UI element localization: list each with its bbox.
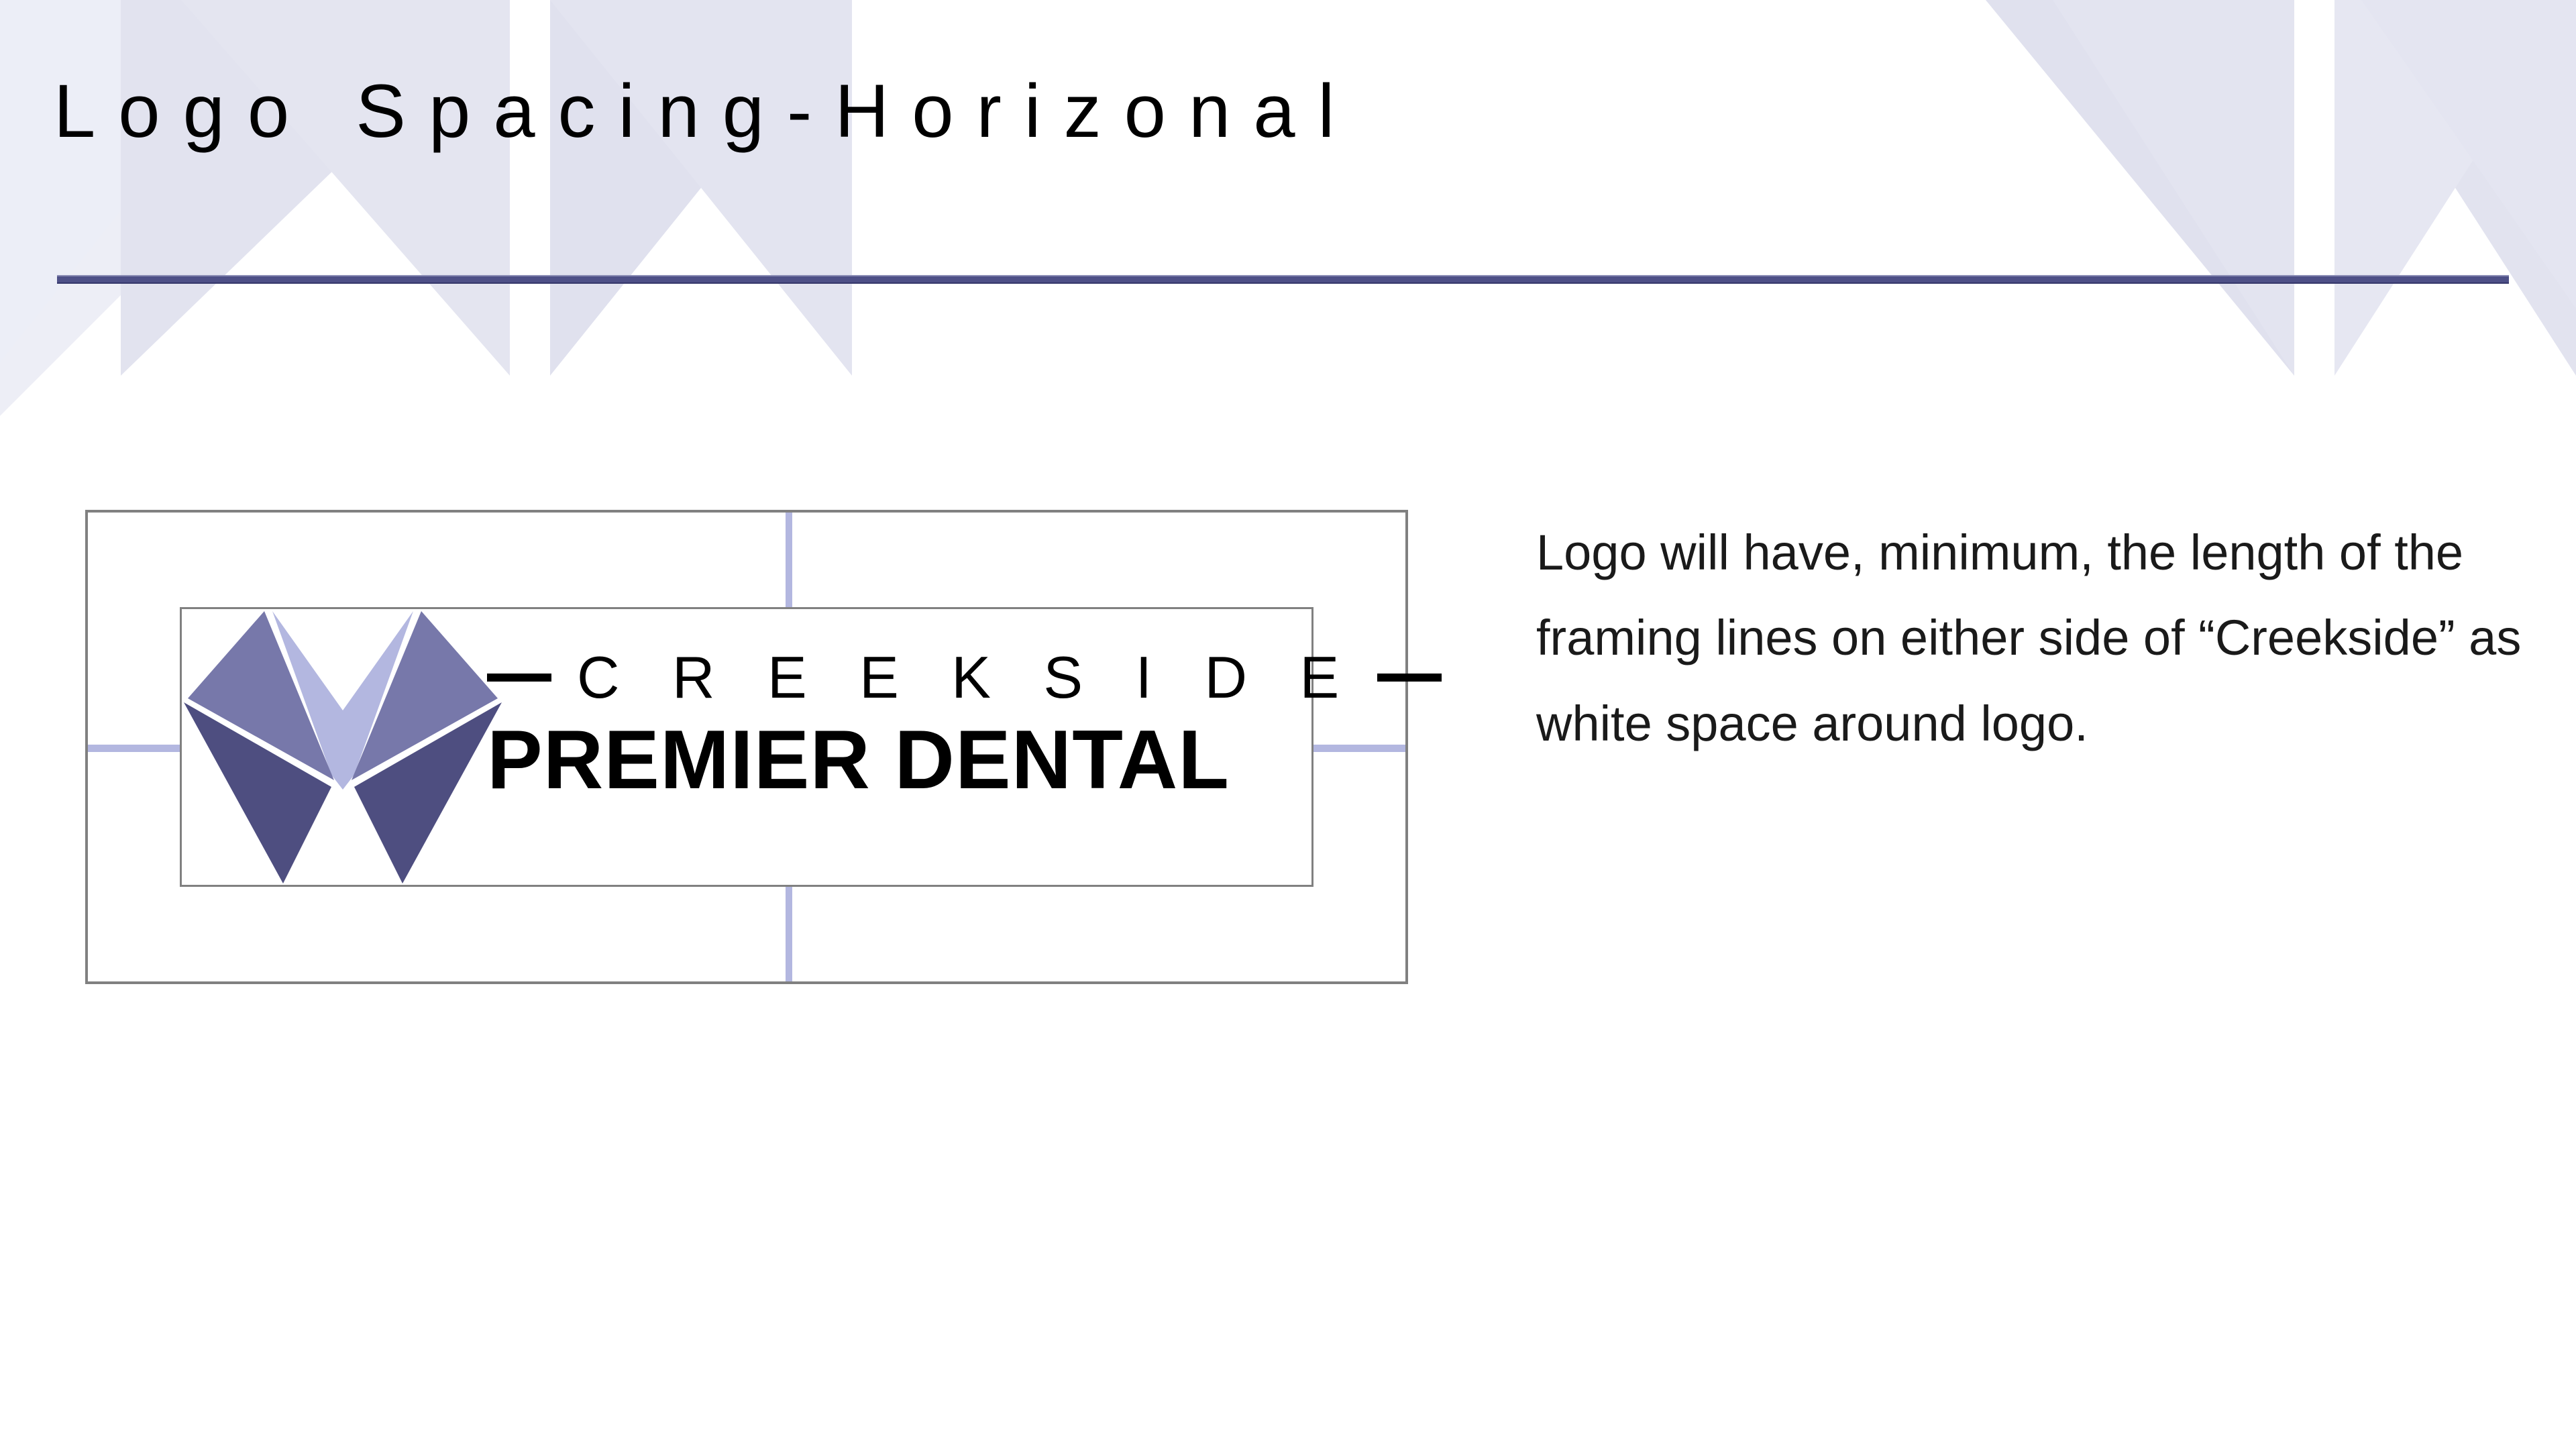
wordmark-premier-dental: PREMIER DENTAL: [487, 716, 1319, 804]
creekside-w-mark-icon: [178, 607, 507, 888]
spacing-guide-line-left: [88, 745, 180, 752]
spacing-guide-line-right: [1313, 745, 1405, 752]
title-underline-rule: [57, 275, 2509, 284]
logo-lockup: C R E E K S I D E PREMIER DENTAL: [182, 609, 1311, 885]
page-title: Logo Spacing-Horizonal: [54, 74, 1357, 149]
wordmark-dash-left-icon: [487, 674, 551, 682]
wordmark-dash-right-icon: [1377, 674, 1442, 682]
wordmark-primary-row: C R E E K S I D E: [487, 637, 1319, 718]
spacing-guide-line-bottom: [786, 887, 792, 981]
body-copy-paragraph: Logo will have, minimum, the length of t…: [1536, 510, 2569, 766]
title-block: Logo Spacing-Horizonal: [0, 74, 2576, 221]
body-copy-block: Logo will have, minimum, the length of t…: [1536, 510, 2569, 766]
logo-bounding-box: C R E E K S I D E PREMIER DENTAL: [180, 607, 1313, 887]
spacing-guide-line-top: [786, 513, 792, 607]
wordmark-creekside: C R E E K S I D E: [577, 648, 1357, 707]
logo-spacing-diagram: C R E E K S I D E PREMIER DENTAL: [85, 510, 1408, 984]
logo-wordmark: C R E E K S I D E PREMIER DENTAL: [487, 637, 1319, 865]
slide-canvas: Logo Spacing-Horizonal: [0, 0, 2576, 1449]
